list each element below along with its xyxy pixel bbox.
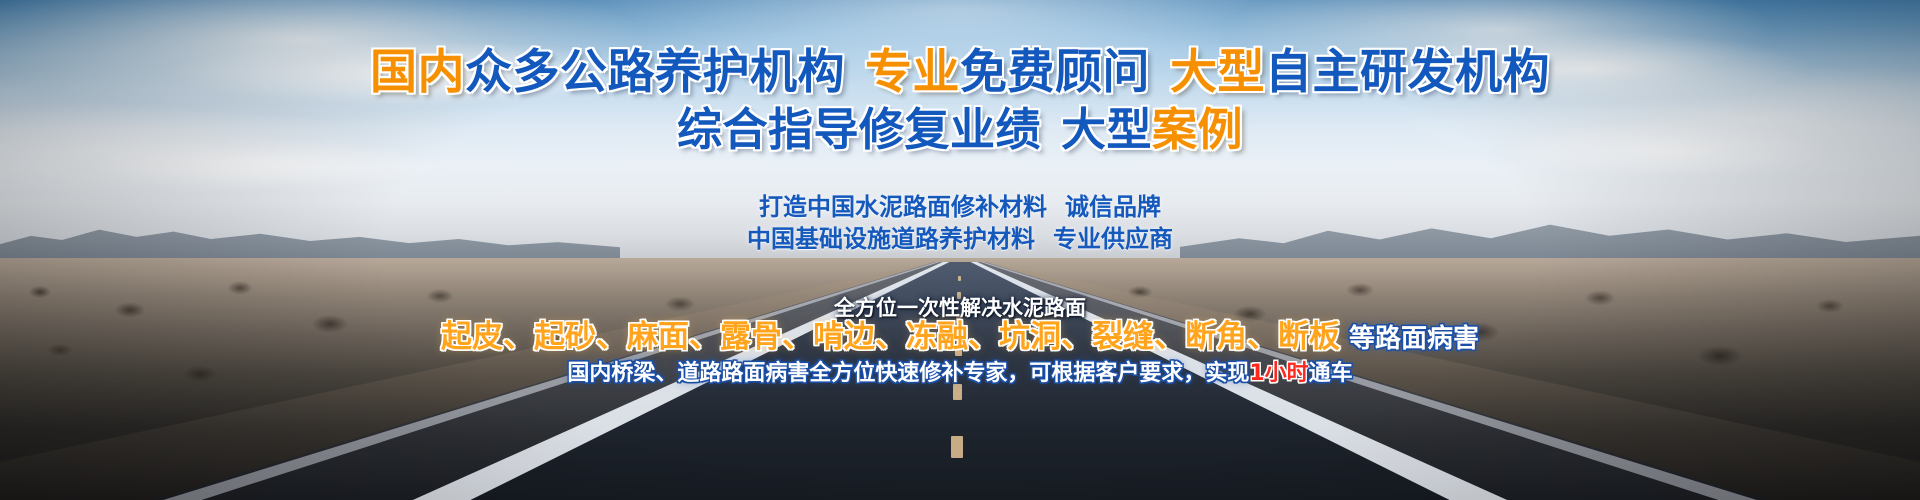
tagline-part1: 国内桥梁、道路路面病害全方位快速修补专家，可根据客户要求，实现 <box>567 361 1249 386</box>
subheading-line-2: 中国基础设施道路养护材料专业供应商 <box>0 224 1920 254</box>
disease-item-3: 麻面、 <box>627 319 720 355</box>
headline-line-2: 综合指导修复业绩大型案例 <box>0 102 1920 158</box>
headline1-seg3: 专业 <box>865 45 960 100</box>
disease-item-9: 断角、 <box>1185 319 1278 355</box>
tagline-line: 国内桥梁、道路路面病害全方位快速修补专家，可根据客户要求，实现1小时通车 <box>0 360 1920 388</box>
subheading1-part2: 诚信品牌 <box>1065 193 1161 221</box>
subheading2-part2: 专业供应商 <box>1053 225 1173 253</box>
subheading2-part1: 中国基础设施道路养护材料 <box>747 225 1035 253</box>
headline1-seg6: 自主研发机构 <box>1265 45 1550 100</box>
subheading-line-1: 打造中国水泥路面修补材料诚信品牌 <box>0 192 1920 222</box>
headline1-seg5: 大型 <box>1170 45 1265 100</box>
disease-item-6: 冻融、 <box>906 319 999 355</box>
disease-item-7: 坑洞、 <box>999 319 1092 355</box>
disease-list: 起皮、起砂、麻面、露骨、啃边、冻融、坑洞、裂缝、断角、断板 等路面病害 <box>0 318 1920 358</box>
disease-list-suffix: 等路面病害 <box>1340 324 1479 354</box>
disease-item-2: 起砂、 <box>534 319 627 355</box>
tagline-highlight: 1小时 <box>1249 361 1308 386</box>
headline2-seg3: 案例 <box>1152 103 1243 156</box>
headline2-seg1: 综合指导修复业绩 <box>677 103 1041 156</box>
tagline-part2: 通车 <box>1309 361 1353 386</box>
headline1-seg2: 众多公路养护机构 <box>465 45 845 100</box>
disease-item-5: 啃边、 <box>813 319 906 355</box>
headline1-seg4: 免费顾问 <box>960 45 1150 100</box>
headline1-seg1: 国内 <box>370 45 465 100</box>
disease-item-10: 断板 <box>1278 319 1340 355</box>
subheading1-part1: 打造中国水泥路面修补材料 <box>759 193 1047 221</box>
disease-item-1: 起皮、 <box>441 319 534 355</box>
disease-item-4: 露骨、 <box>720 319 813 355</box>
promo-banner: 国内众多公路养护机构专业免费顾问大型自主研发机构 综合指导修复业绩大型案例 打造… <box>0 0 1920 500</box>
disease-item-8: 裂缝、 <box>1092 319 1185 355</box>
banner-text-content: 国内众多公路养护机构专业免费顾问大型自主研发机构 综合指导修复业绩大型案例 打造… <box>0 0 1920 500</box>
headline-line-1: 国内众多公路养护机构专业免费顾问大型自主研发机构 <box>0 44 1920 102</box>
headline2-seg2: 大型 <box>1061 103 1152 156</box>
